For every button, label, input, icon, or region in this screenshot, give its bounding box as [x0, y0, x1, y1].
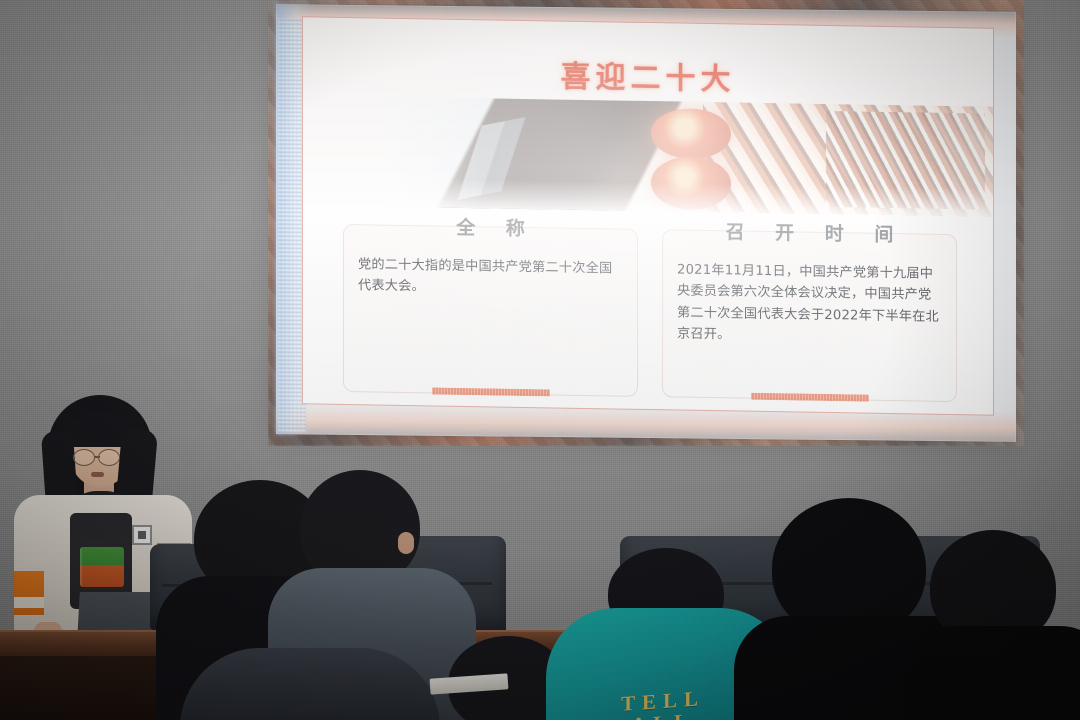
column-accent-bar-right — [751, 393, 869, 402]
audience-torso-5 — [902, 626, 1080, 720]
slide-column-full-name: 全 称 党的二十大指的是中国共产党第二十次全国代表大会。 — [343, 224, 638, 397]
screen-surface: 喜迎二十大 全 称 党的二十大指的是中国共产党第二十次全国代表大会。 — [276, 4, 1016, 442]
projection-screen: 喜迎二十大 全 称 党的二十大指的是中国共产党第二十次全国代表大会。 — [276, 8, 1016, 438]
slide-banner-image — [385, 97, 994, 217]
column-accent-bar-left — [432, 387, 550, 396]
teal-jacket-text: TELL ALL — [570, 683, 756, 720]
presenter-glasses-bridge — [94, 456, 100, 458]
presenter-glasses-left-lens — [73, 449, 95, 466]
column-body-full-name: 党的二十大指的是中国共产党第二十次全国代表大会。 — [358, 254, 623, 301]
audience-member-5 — [920, 530, 1080, 720]
lecture-hall-photo: 喜迎二十大 全 称 党的二十大指的是中国共产党第二十次全国代表大会。 — [0, 0, 1080, 720]
slide-title: 喜迎二十大 — [303, 47, 993, 102]
slide-columns: 全 称 党的二十大指的是中国共产党第二十次全国代表大会。 召 开 时 间 202… — [343, 224, 957, 402]
audience-torso-7 — [180, 648, 440, 720]
audience-ear-2 — [398, 532, 414, 554]
column-body-meeting-time: 2021年11月11日，中国共产党第十九届中央委员会第六次全体会议决定，中国共产… — [677, 260, 942, 350]
audience-member-7 — [180, 648, 440, 720]
presenter-mouth — [91, 472, 104, 477]
banner-fade-overlay — [385, 97, 994, 217]
presentation-slide: 喜迎二十大 全 称 党的二十大指的是中国共产党第二十次全国代表大会。 — [302, 16, 994, 415]
slide-column-meeting-time: 召 开 时 间 2021年11月11日，中国共产党第十九届中央委员会第六次全体会… — [662, 229, 957, 402]
column-heading-full-name: 全 称 — [358, 211, 623, 242]
column-heading-meeting-time: 召 开 时 间 — [677, 217, 942, 248]
presenter-glasses-right-lens — [98, 449, 120, 466]
